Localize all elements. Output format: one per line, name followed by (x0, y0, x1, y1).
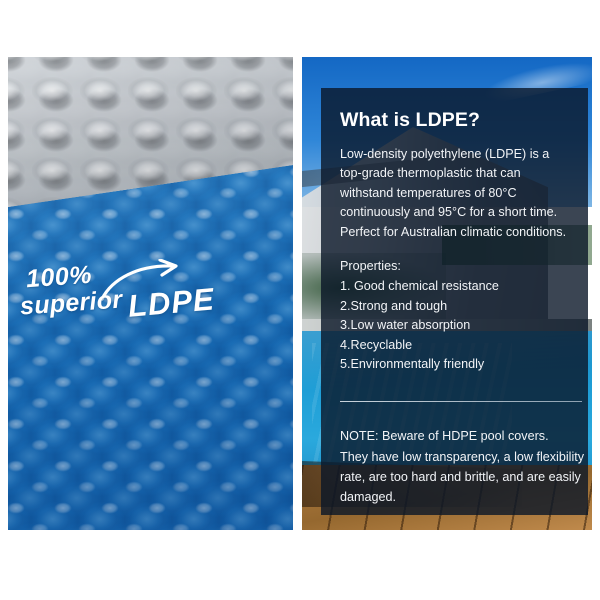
panel-gap (293, 0, 302, 600)
intro-paragraph: Low-density polyethylene (LDPE) is a top… (340, 145, 570, 242)
callout-ldpe: LDPE (127, 281, 216, 324)
property-item: 4.Recyclable (340, 336, 570, 355)
note-block: NOTE: Beware of HDPE pool covers. They h… (340, 426, 570, 507)
property-item: 1. Good chemical resistance (340, 277, 570, 296)
intro-line: top-grade thermoplastic that can (340, 164, 570, 183)
property-item: 3.Low water absorption (340, 316, 570, 335)
intro-line: withstand temperatures of 80°C (340, 184, 570, 203)
intro-line: Perfect for Australian climatic conditio… (340, 223, 570, 242)
ldpe-info-card: What is LDPE? Low-density polyethylene (… (321, 88, 588, 515)
property-item: 5.Environmentally friendly (340, 355, 570, 374)
intro-line: Low-density polyethylene (LDPE) is a (340, 145, 570, 164)
section-divider (340, 401, 582, 402)
product-info-graphic: 100% superior LDPE What is LDPE? Low-den… (0, 0, 600, 600)
note-line: They have low transparency, a low flexib… (340, 447, 570, 467)
note-line: damaged. (340, 487, 570, 507)
bubble-cover-panel: 100% superior LDPE (8, 57, 293, 530)
properties-list: Properties: 1. Good chemical resistance … (340, 257, 570, 374)
frame-right (592, 0, 600, 600)
callout-superior: superior (19, 285, 123, 321)
property-item: 2.Strong and tough (340, 297, 570, 316)
info-panel: What is LDPE? Low-density polyethylene (… (302, 57, 592, 530)
note-line: rate, are too hard and brittle, and are … (340, 467, 570, 487)
note-line: NOTE: Beware of HDPE pool covers. (340, 426, 570, 446)
card-heading: What is LDPE? (340, 109, 570, 132)
properties-label: Properties: (340, 257, 570, 276)
intro-line: continuously and 95°C for a short time. (340, 203, 570, 222)
handwritten-callout: 100% superior LDPE (20, 263, 220, 343)
frame-left (0, 0, 8, 600)
